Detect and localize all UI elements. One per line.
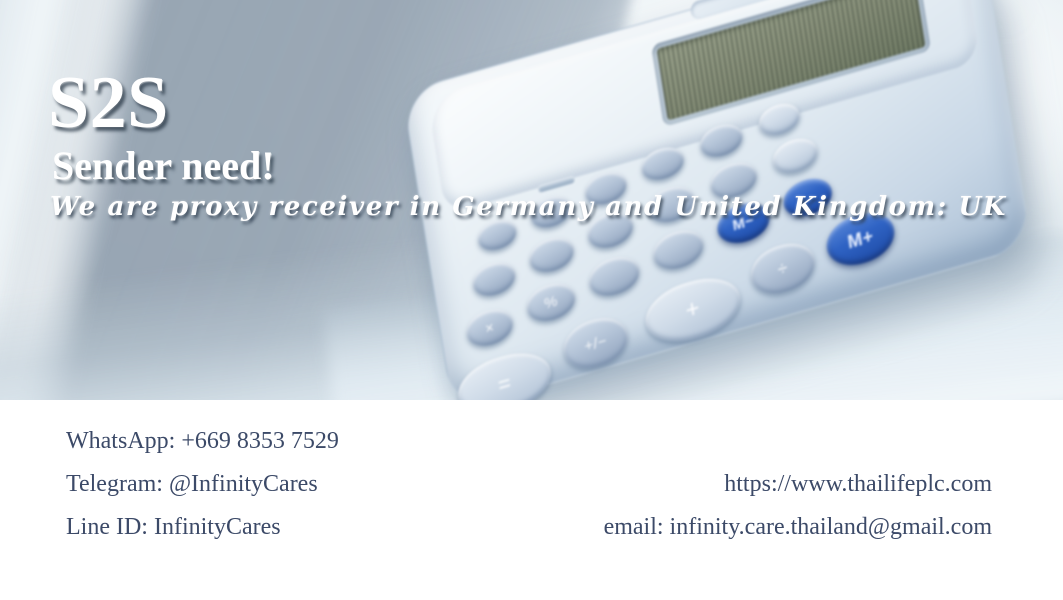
business-card: × % M− = +/− + ÷ M+ S2S Sender need! We … <box>0 0 1063 600</box>
contact-website[interactable]: https://www.thailifeplc.com <box>604 463 992 506</box>
key-divide: ÷ <box>747 237 818 301</box>
hero-headline: Sender need! <box>52 145 1028 187</box>
hero-text-block: S2S Sender need! We are proxy receiver i… <box>48 68 1028 222</box>
contact-telegram[interactable]: Telegram: @InfinityCares <box>66 463 339 506</box>
key-blank-13 <box>586 251 642 301</box>
contact-line-id[interactable]: Line ID: InfinityCares <box>66 506 339 549</box>
brand-title: S2S <box>48 68 1028 139</box>
hero-tagline: We are proxy receiver in Germany and Uni… <box>50 193 1028 222</box>
contact-column-right: https://www.thailifeplc.com email: infin… <box>604 463 992 549</box>
contact-strip: WhatsApp: +669 8353 7529 Telegram: @Infi… <box>0 400 1063 600</box>
key-percent: % <box>524 278 578 327</box>
key-equals: = <box>454 344 555 400</box>
hero-banner: × % M− = +/− + ÷ M+ S2S Sender need! We … <box>0 0 1063 400</box>
key-multiply: × <box>464 304 515 351</box>
key-blank-7 <box>470 258 517 301</box>
key-blank-14 <box>651 225 707 275</box>
key-blank-8 <box>527 233 576 278</box>
contact-email[interactable]: email: infinity.care.thailand@gmail.com <box>604 506 992 549</box>
contact-whatsapp[interactable]: WhatsApp: +669 8353 7529 <box>66 420 339 463</box>
contact-column-left: WhatsApp: +669 8353 7529 Telegram: @Infi… <box>66 420 339 549</box>
